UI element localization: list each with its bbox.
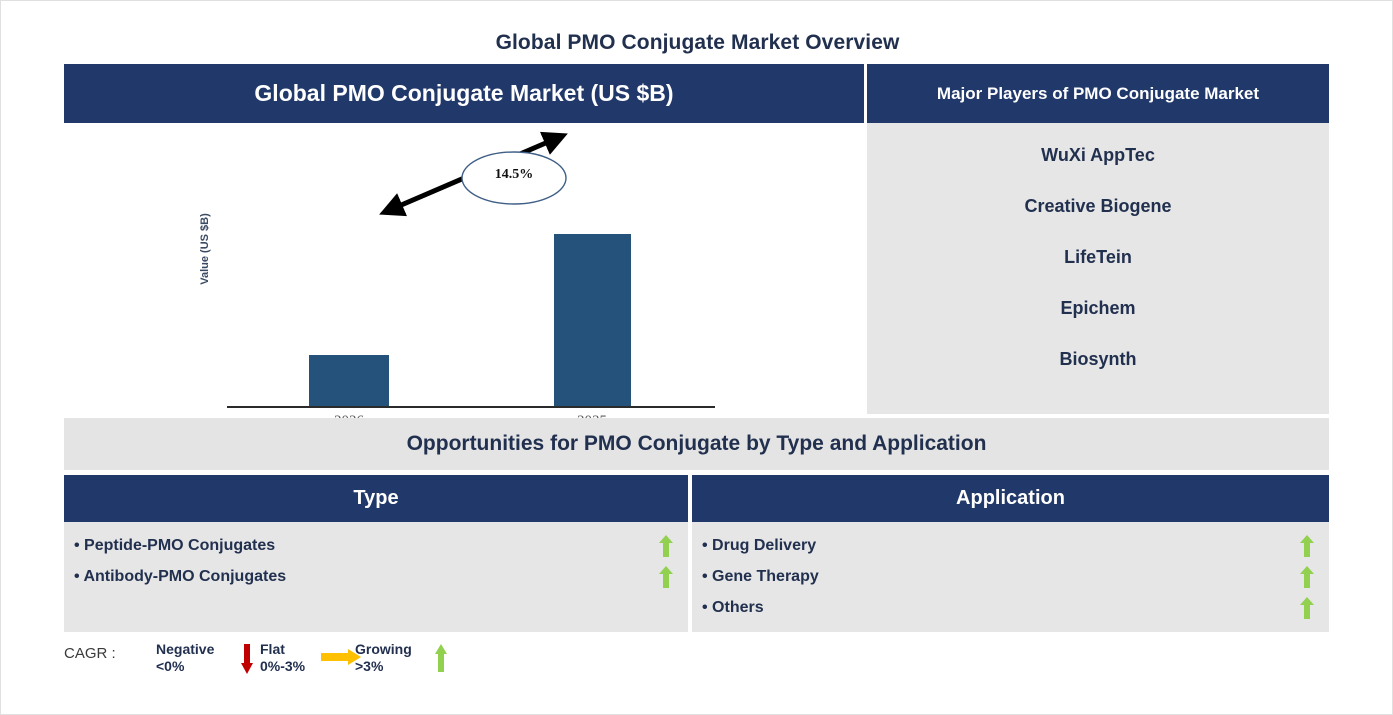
list-item: • Peptide-PMO Conjugates	[64, 530, 688, 561]
list-item: • Gene Therapy	[692, 561, 1329, 592]
arrow-up-icon	[658, 565, 674, 589]
cagr-legend: CAGR : Negative <0% Flat 0%-3% Growing >…	[64, 641, 564, 687]
market-chart-header: Global PMO Conjugate Market (US $B)	[64, 64, 864, 123]
cagr-growth-arrow-icon	[64, 123, 864, 414]
application-item-label: • Drug Delivery	[702, 537, 816, 554]
list-item: Epichem	[867, 298, 1329, 319]
opportunities-band-title: Opportunities for PMO Conjugate by Type …	[64, 418, 1329, 470]
application-column-body: • Drug Delivery • Gene Therapy • Others	[692, 522, 1329, 623]
list-item: • Others	[692, 592, 1329, 623]
cagr-value-label: 14.5%	[469, 167, 559, 183]
legend-growing-range: >3%	[355, 658, 412, 675]
type-column-header: Type	[64, 475, 688, 522]
major-players-list: WuXi AppTec Creative Biogene LifeTein Ep…	[867, 123, 1329, 370]
legend-growing-name: Growing	[355, 641, 412, 658]
market-chart-panel: Global PMO Conjugate Market (US $B) Valu…	[64, 64, 864, 414]
list-item: WuXi AppTec	[867, 145, 1329, 166]
list-item: Creative Biogene	[867, 196, 1329, 217]
bar-chart: Value (US $B) 14.5%	[64, 123, 864, 414]
application-column-header: Application	[692, 475, 1329, 522]
type-item-label: • Peptide-PMO Conjugates	[74, 537, 275, 554]
arrow-up-icon	[1299, 565, 1315, 589]
legend-item-growing: Growing >3%	[355, 641, 412, 675]
application-item-label: • Others	[702, 599, 764, 616]
arrow-up-icon	[434, 643, 448, 673]
list-item: Biosynth	[867, 349, 1329, 370]
type-item-label: • Antibody-PMO Conjugates	[74, 568, 286, 585]
page-title: Global PMO Conjugate Market Overview	[1, 31, 1393, 55]
list-item: LifeTein	[867, 247, 1329, 268]
legend-item-flat: Flat 0%-3%	[260, 641, 305, 675]
arrow-down-icon	[240, 643, 254, 675]
arrow-up-icon	[658, 534, 674, 558]
application-column: Application • Drug Delivery • Gene Thera…	[692, 475, 1329, 632]
list-item: • Drug Delivery	[692, 530, 1329, 561]
infographic-page: Global PMO Conjugate Market Overview Glo…	[0, 0, 1393, 715]
type-column: Type • Peptide-PMO Conjugates • Antibody…	[64, 475, 688, 632]
application-item-label: • Gene Therapy	[702, 568, 819, 585]
legend-negative-name: Negative	[156, 641, 214, 658]
legend-flat-name: Flat	[260, 641, 305, 658]
legend-flat-range: 0%-3%	[260, 658, 305, 675]
list-item: • Antibody-PMO Conjugates	[64, 561, 688, 592]
type-column-body: • Peptide-PMO Conjugates • Antibody-PMO …	[64, 522, 688, 592]
cagr-legend-label: CAGR :	[64, 645, 116, 662]
legend-negative-range: <0%	[156, 658, 214, 675]
arrow-up-icon	[1299, 534, 1315, 558]
legend-item-negative: Negative <0%	[156, 641, 214, 675]
major-players-panel: Major Players of PMO Conjugate Market Wu…	[867, 64, 1329, 414]
major-players-header: Major Players of PMO Conjugate Market	[867, 64, 1329, 123]
arrow-up-icon	[1299, 596, 1315, 620]
